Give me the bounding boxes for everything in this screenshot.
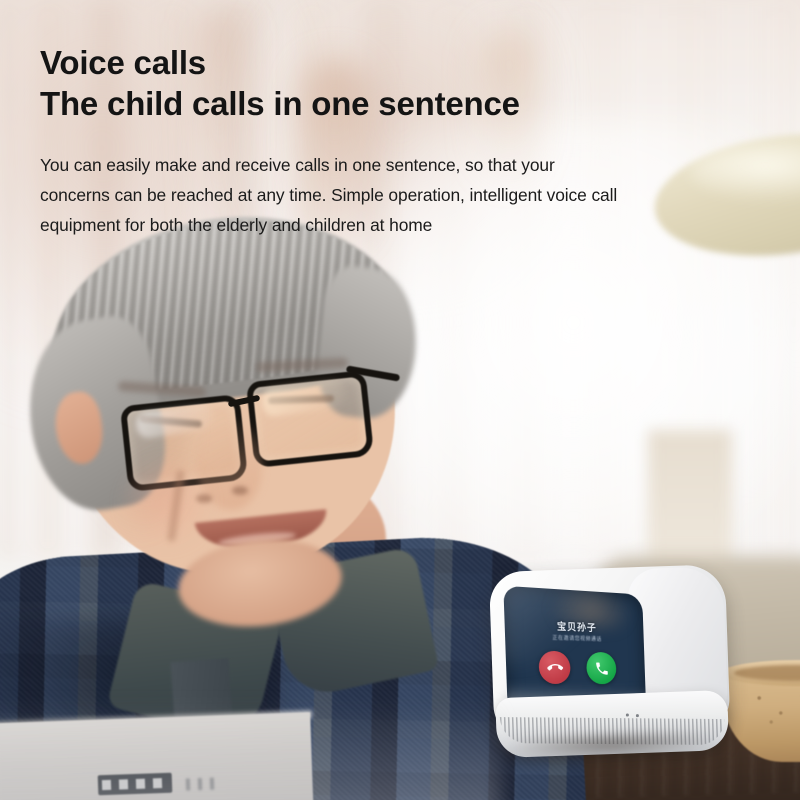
newspaper-masthead [98, 773, 173, 796]
nostril-right [232, 486, 248, 495]
smart-display-device[interactable]: 宝贝孙子 正在邀请您视频通话 [489, 564, 737, 758]
product-banner: 宝贝孙子 正在邀请您视频通话 [0, 0, 800, 800]
microphone-hole [636, 714, 639, 717]
accept-call-button[interactable] [586, 652, 617, 684]
call-action-buttons [506, 650, 646, 685]
body-paragraph: You can easily make and receive calls in… [40, 150, 628, 240]
headline-primary: Voice calls [40, 42, 640, 83]
phone-icon [594, 660, 609, 676]
marketing-copy: Voice calls The child calls in one sente… [40, 42, 640, 240]
microphone-hole [626, 713, 629, 716]
newspaper-page-number [186, 777, 220, 790]
phone-down-icon [547, 659, 563, 676]
decline-call-button[interactable] [538, 651, 571, 684]
headline-secondary: The child calls in one sentence [40, 83, 640, 124]
